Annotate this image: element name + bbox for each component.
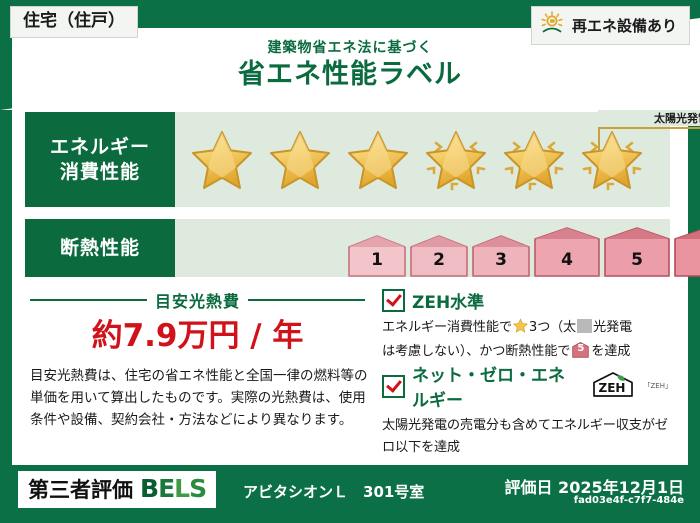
housing-type-chip: 住宅（住戸） xyxy=(10,6,138,38)
bels-certification-chip: 第三者評価 BELS xyxy=(18,471,216,508)
heading-rule-left xyxy=(30,299,147,301)
inline-house-level-number: 5 xyxy=(572,341,589,358)
net-zero-header: ネット・ゼロ・エネルギー ZEH 「ZEH」 xyxy=(382,361,672,411)
utility-cost-heading-text: 目安光熱費 xyxy=(155,288,240,312)
renewable-badge-label: 再エネ設備あり xyxy=(572,15,677,36)
zeh-standard-block: ZEH水準 エネルギー消費性能で3つ（太光発電は考慮しない）、かつ断熱性能で5を… xyxy=(382,288,672,363)
star-item xyxy=(417,112,495,207)
star-icon xyxy=(341,123,415,197)
star-item xyxy=(261,112,339,207)
star-item xyxy=(183,112,261,207)
energy-row-label-line2: 消費性能 xyxy=(60,160,140,184)
star-icon xyxy=(419,123,493,197)
house-level-number: 3 xyxy=(471,250,531,270)
zeh-desc-part4: を達成 xyxy=(591,344,630,359)
star-icon xyxy=(263,123,337,197)
energy-label-root: 住宅（住戸） 再エネ設備あり 建築物省エネ法に基づく xyxy=(0,0,700,523)
renewable-equipment-badge: 再エネ設備あり xyxy=(531,6,690,45)
insulation-house-item: 3 xyxy=(471,235,531,277)
solar-sun-icon xyxy=(540,11,566,39)
insulation-level-scale: 1234567 xyxy=(347,219,700,277)
checkbox-checked-icon xyxy=(382,375,405,398)
insulation-performance-row: 断熱性能 1234567 xyxy=(25,219,670,277)
insulation-row-body: 1234567 xyxy=(175,219,670,277)
zeh-logo-icon: ZEH xyxy=(590,371,636,402)
house-level-number: 5 xyxy=(603,250,671,270)
star-item xyxy=(495,112,573,207)
zeh-desc-part2: 光発電 xyxy=(593,320,632,335)
zeh-desc-star-count: 3つ（太 xyxy=(529,320,576,335)
checkbox-checked-icon xyxy=(382,289,405,312)
energy-row-body: 太陽光発電(自家消費)分 xyxy=(175,112,670,207)
zeh-desc-part3: は考慮しない）、かつ断熱性能で xyxy=(382,344,570,359)
net-zero-description: 太陽光発電の売電分も含めてエネルギー収支がゼロ以下を達成 xyxy=(382,415,672,459)
zeh-standard-header: ZEH水準 xyxy=(382,288,672,313)
house-level-number: 1 xyxy=(347,250,407,270)
insulation-row-label-text: 断熱性能 xyxy=(60,236,140,260)
building-name: アビタシオンＬ 301号室 xyxy=(243,481,424,502)
star-icon xyxy=(497,123,571,197)
inline-star-icon xyxy=(513,318,528,341)
net-zero-title: ネット・ゼロ・エネルギー xyxy=(412,361,579,411)
star-icon xyxy=(185,123,259,197)
evaluation-id: fad03e4f-c7f7-484e xyxy=(574,495,684,506)
house-level-number: 4 xyxy=(533,250,601,270)
house-level-number: 6 xyxy=(673,250,700,270)
footer-bar: 第三者評価 BELS アビタシオンＬ 301号室 評価日 2025年12月1日 … xyxy=(0,465,700,523)
insulation-house-item: 1 xyxy=(347,235,407,277)
heading-rule-right xyxy=(248,299,365,301)
utility-cost-value: 約7.9万円 / 年 xyxy=(30,310,365,355)
star-rating xyxy=(183,112,666,207)
solar-bracket-label: 太陽光発電(自家消費)分 xyxy=(598,110,700,126)
insulation-house-item: 2 xyxy=(409,235,469,277)
energy-row-label-line1: エネルギー xyxy=(50,135,150,159)
star-item xyxy=(339,112,417,207)
third-party-eval-label: 第三者評価 xyxy=(28,474,133,504)
zeh-desc-part1: エネルギー消費性能で xyxy=(382,320,512,335)
svg-text:ZEH: ZEH xyxy=(598,381,625,395)
bels-logo: BELS xyxy=(140,474,206,503)
insulation-row-label: 断熱性能 xyxy=(25,219,175,277)
insulation-house-item: 5 xyxy=(603,227,671,277)
net-zero-energy-block: ネット・ゼロ・エネルギー ZEH 「ZEH」 太陽光発電の売電分も含めてエネルギ… xyxy=(382,361,672,459)
insulation-house-item: 4 xyxy=(533,227,601,277)
title-main: 省エネ性能ラベル xyxy=(0,58,700,92)
redacted-character xyxy=(577,319,592,333)
zeh-standard-description: エネルギー消費性能で3つ（太光発電は考慮しない）、かつ断熱性能で5を達成 xyxy=(382,317,672,363)
utility-cost-heading: 目安光熱費 xyxy=(30,288,365,312)
utility-cost-note: 目安光熱費は、住宅の省エネ性能と全国一律の燃料等の単価を用いて算出したものです。… xyxy=(30,366,368,432)
energy-row-label: エネルギー 消費性能 xyxy=(25,112,175,207)
house-level-number: 2 xyxy=(409,250,469,270)
solar-bracket xyxy=(598,127,700,151)
zeh-standard-title: ZEH水準 xyxy=(412,288,484,313)
energy-performance-row: エネルギー 消費性能 太陽光発電(自家消費)分 xyxy=(25,112,670,207)
label-title: 建築物省エネ法に基づく 省エネ性能ラベル xyxy=(0,40,700,92)
zeh-logo-subtext: 「ZEH」 xyxy=(644,381,672,391)
inline-house-level-icon: 5 xyxy=(572,342,589,358)
housing-type-label: 住宅（住戸） xyxy=(23,11,125,31)
insulation-house-item: 6 xyxy=(673,227,700,277)
